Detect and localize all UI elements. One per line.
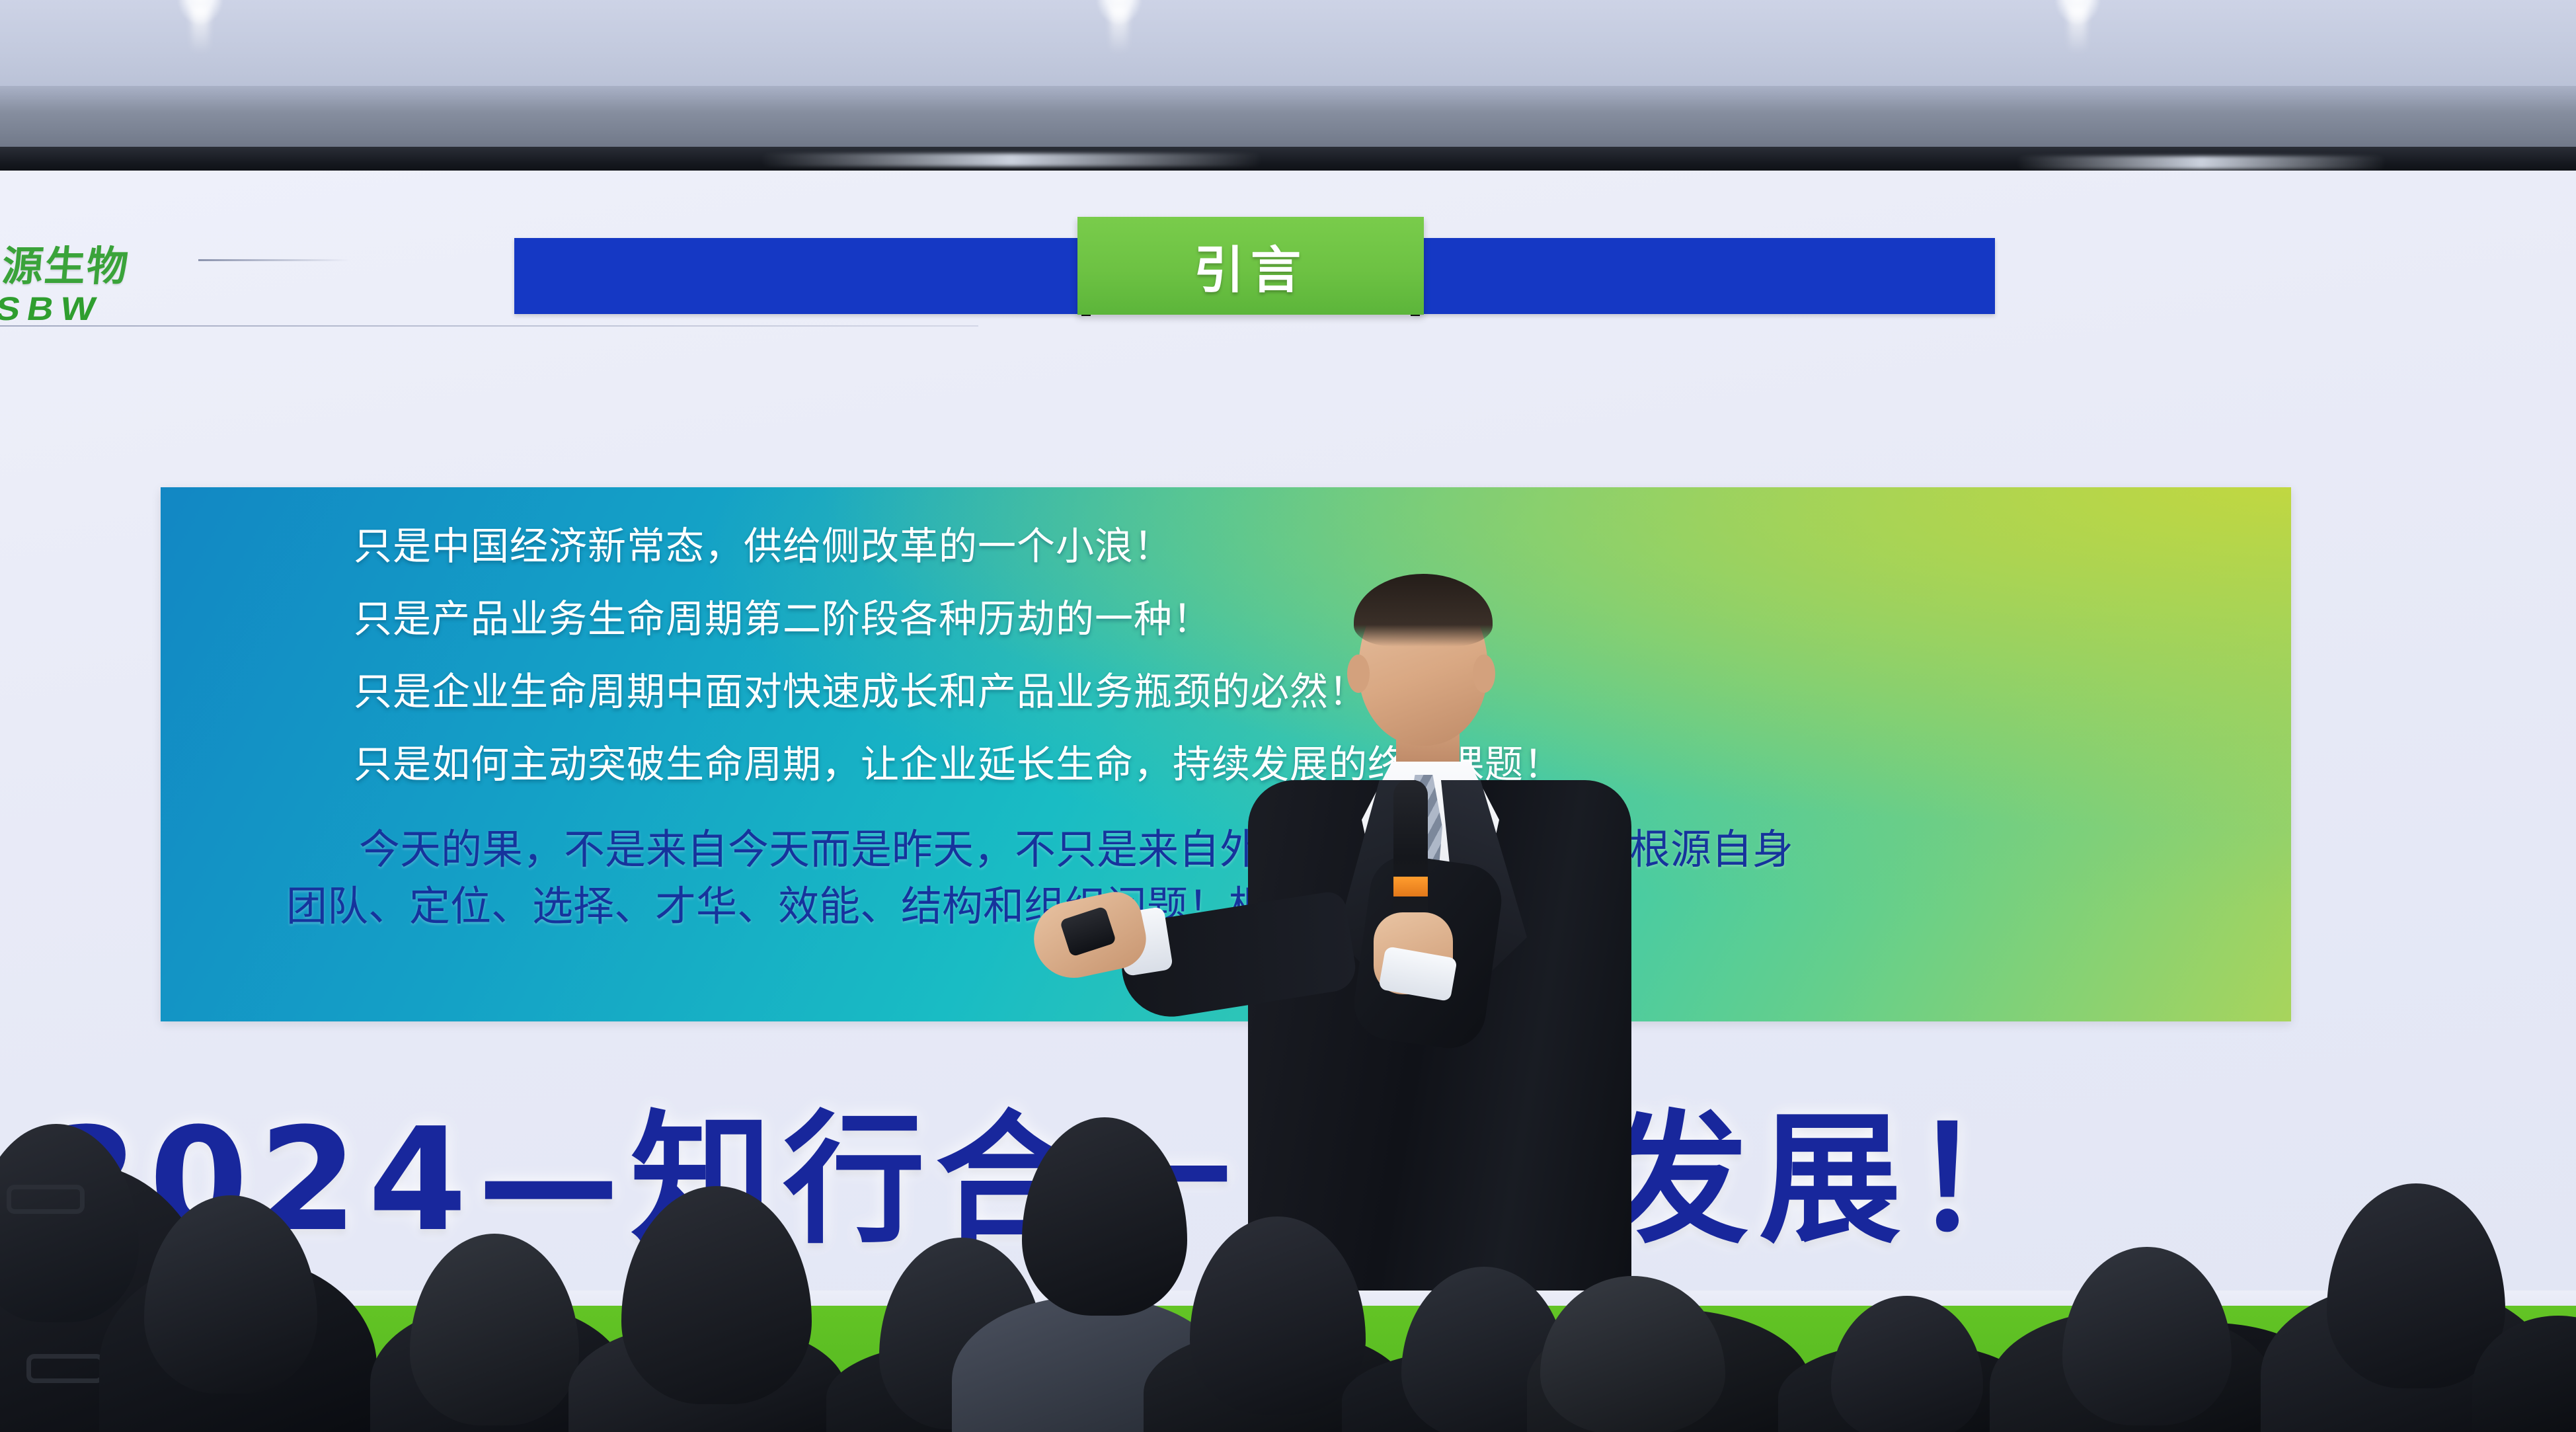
microphone-indicator [1393, 877, 1428, 896]
ceiling-light-beam [2069, 7, 2086, 53]
speaker-figure [1163, 582, 1719, 1335]
speaker-ear [1347, 655, 1370, 693]
brand-name-en: GSBW [0, 290, 269, 328]
brand-rule [198, 259, 350, 261]
slide-header-divider [0, 325, 978, 327]
brand-name-cn: 根源生物 [0, 233, 241, 292]
eyeglasses-icon [26, 1354, 104, 1383]
photo-scene: 根源生物 GSBW 引言 只是中国经济新常态，供给侧改革的一个小浪！ 只是产品业… [0, 0, 2576, 1432]
ceiling-light-beam [1111, 7, 1128, 53]
slide-title-banner: 引言 [514, 238, 1995, 314]
slide-title-text: 引言 [1194, 229, 1308, 302]
eyeglasses-icon [7, 1185, 85, 1214]
brand-logo: 根源生物 GSBW [0, 233, 238, 328]
ceiling-light-beam [192, 7, 209, 53]
ceiling-reflection-glint [2016, 156, 2386, 169]
ceiling-reflection-glint [760, 153, 1263, 167]
speaker-ear [1473, 655, 1495, 693]
slide-bullet-line: 只是中国经济新常态，供给侧改革的一个小浪！ [354, 527, 2138, 565]
banner-bar-left [514, 238, 1083, 314]
slide-title-box: 引言 [1077, 217, 1424, 315]
upper-wall [0, 86, 2576, 152]
ceiling [0, 0, 2576, 93]
speaker-hair [1354, 574, 1493, 647]
banner-bar-right [1413, 238, 1995, 314]
